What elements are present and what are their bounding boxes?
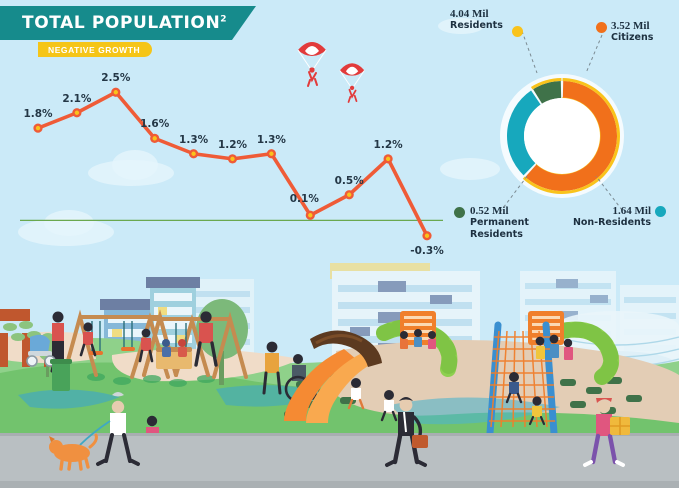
legend-citizens: 3.52 Mil Citizens — [611, 20, 653, 44]
data-point-marker-core — [75, 111, 79, 115]
page-title: TOTAL POPULATION2 — [0, 13, 227, 33]
population-growth-chart: 1.8%2.1%2.5%1.6%1.3%1.2%1.3%0.1%0.5%1.2%… — [0, 60, 460, 260]
page-title-footnote: 2 — [220, 14, 227, 24]
data-point-marker-core — [308, 213, 312, 217]
data-point-marker-core — [386, 157, 390, 161]
data-point-label: 1.3% — [179, 134, 208, 146]
growth-line — [38, 92, 427, 236]
road-edge — [0, 481, 679, 488]
data-point-markers — [33, 88, 431, 241]
legend-non-residents-value: 1.64 Mil — [561, 205, 651, 217]
population-breakdown-donut: 2020 5.69 Million 4.04 Mil Residents 3.5… — [436, 0, 679, 260]
legend-non-residents-label: Non-Residents — [561, 217, 651, 229]
infographic-root: TOTAL POPULATION2 NEGATIVE GROWTH — [0, 0, 679, 488]
legend-non-residents: 1.64 Mil Non-Residents — [561, 205, 651, 229]
legend-residents-dot — [512, 26, 523, 37]
legend-non-residents-dot — [655, 206, 666, 217]
legend-citizens-value: 3.52 Mil — [611, 20, 653, 32]
road-curb — [0, 433, 679, 436]
data-point-label: 1.2% — [218, 139, 247, 151]
data-point-marker-core — [114, 90, 118, 94]
legend-citizens-dot — [596, 22, 607, 33]
data-point-label: 1.3% — [257, 134, 286, 146]
donut-hole — [524, 98, 600, 174]
legend-residents: 4.04 Mil Residents — [450, 8, 503, 32]
data-point-marker-core — [36, 126, 40, 130]
page-title-label: TOTAL POPULATION — [22, 13, 220, 33]
data-point-marker-core — [425, 234, 429, 238]
briefcase — [412, 435, 428, 448]
data-point-label: 1.8% — [23, 108, 52, 120]
kids-sitting-group — [400, 329, 436, 349]
legend-residents-value: 4.04 Mil — [450, 8, 503, 20]
legend-permanent-residents-value: 0.52 Mil — [470, 205, 529, 217]
legend-permanent-residents-label-1: Permanent — [470, 217, 529, 229]
data-point-label: 0.1% — [290, 193, 319, 205]
data-point-marker-core — [347, 193, 351, 197]
data-point-marker-core — [191, 152, 195, 156]
chart-svg — [0, 60, 460, 260]
data-point-marker-core — [153, 136, 157, 140]
legend-permanent-residents-label-2: Residents — [470, 229, 529, 241]
data-point-marker-core — [230, 157, 234, 161]
legend-citizens-label: Citizens — [611, 32, 653, 44]
data-point-label: 2.5% — [101, 72, 130, 84]
status-badge: NEGATIVE GROWTH — [38, 42, 152, 57]
legend-permanent-residents-dot — [454, 207, 465, 218]
legend-permanent-residents: 0.52 Mil Permanent Residents — [470, 205, 529, 240]
data-point-marker-core — [269, 152, 273, 156]
legend-residents-label: Residents — [450, 20, 503, 32]
park-illustration — [0, 255, 679, 488]
trash-bin — [50, 359, 72, 391]
data-point-label: 2.1% — [62, 93, 91, 105]
status-badge-label: NEGATIVE GROWTH — [48, 45, 140, 55]
data-point-label: 1.2% — [374, 139, 403, 151]
page-title-banner: TOTAL POPULATION2 — [0, 6, 256, 40]
data-point-label: 1.6% — [140, 118, 169, 130]
data-point-label: 0.5% — [335, 175, 364, 187]
